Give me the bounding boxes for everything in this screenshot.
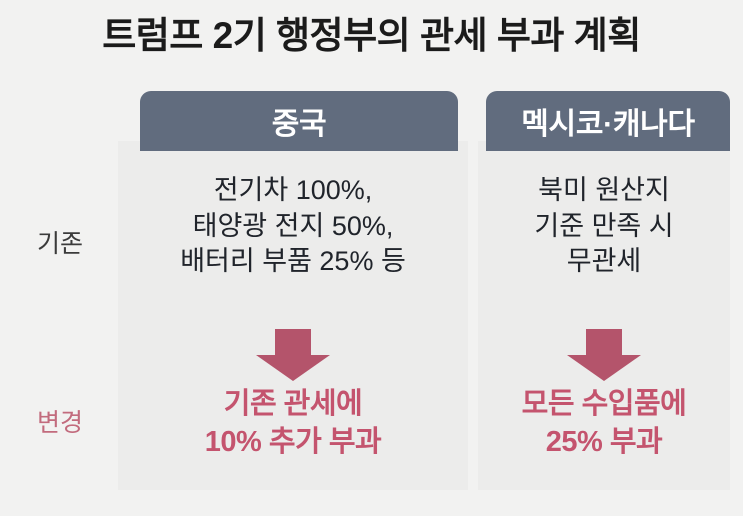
cell-china-changed: 기존 관세에 10% 추가 부과 (118, 385, 468, 462)
cell-line: 10% 추가 부과 (118, 423, 468, 461)
arrow-down-icon (567, 329, 641, 381)
cell-mexico-canada-existing: 북미 원산지 기준 만족 시 무관세 (478, 173, 730, 280)
arrow-head (256, 355, 330, 381)
column-header-mexico-canada: 멕시코·캐나다 (486, 91, 730, 151)
arrow-head (567, 355, 641, 381)
cell-line: 기존 관세에 (118, 385, 468, 423)
cell-line: 배터리 부품 25% 등 (118, 244, 468, 280)
cell-line: 태양광 전지 50%, (118, 209, 468, 245)
row-label-changed: 변경 (8, 410, 112, 438)
cell-line: 25% 부과 (478, 423, 730, 461)
cell-line: 모든 수입품에 (478, 385, 730, 423)
page-title: 트럼프 2기 행정부의 관세 부과 계획 (0, 16, 743, 57)
cell-line: 기준 만족 시 (478, 209, 730, 245)
infographic-root: 트럼프 2기 행정부의 관세 부과 계획 중국 멕시코·캐나다 기존 변경 전기… (0, 0, 743, 516)
arrow-down-icon (256, 329, 330, 381)
cell-line: 북미 원산지 (478, 173, 730, 209)
cell-line: 무관세 (478, 244, 730, 280)
arrow-shaft (586, 329, 622, 355)
row-label-existing: 기존 (8, 231, 112, 259)
column-header-china: 중국 (140, 91, 458, 151)
cell-mexico-canada-changed: 모든 수입품에 25% 부과 (478, 385, 730, 462)
cell-china-existing: 전기차 100%, 태양광 전지 50%, 배터리 부품 25% 등 (118, 173, 468, 280)
cell-line: 전기차 100%, (118, 173, 468, 209)
arrow-shaft (275, 329, 311, 355)
